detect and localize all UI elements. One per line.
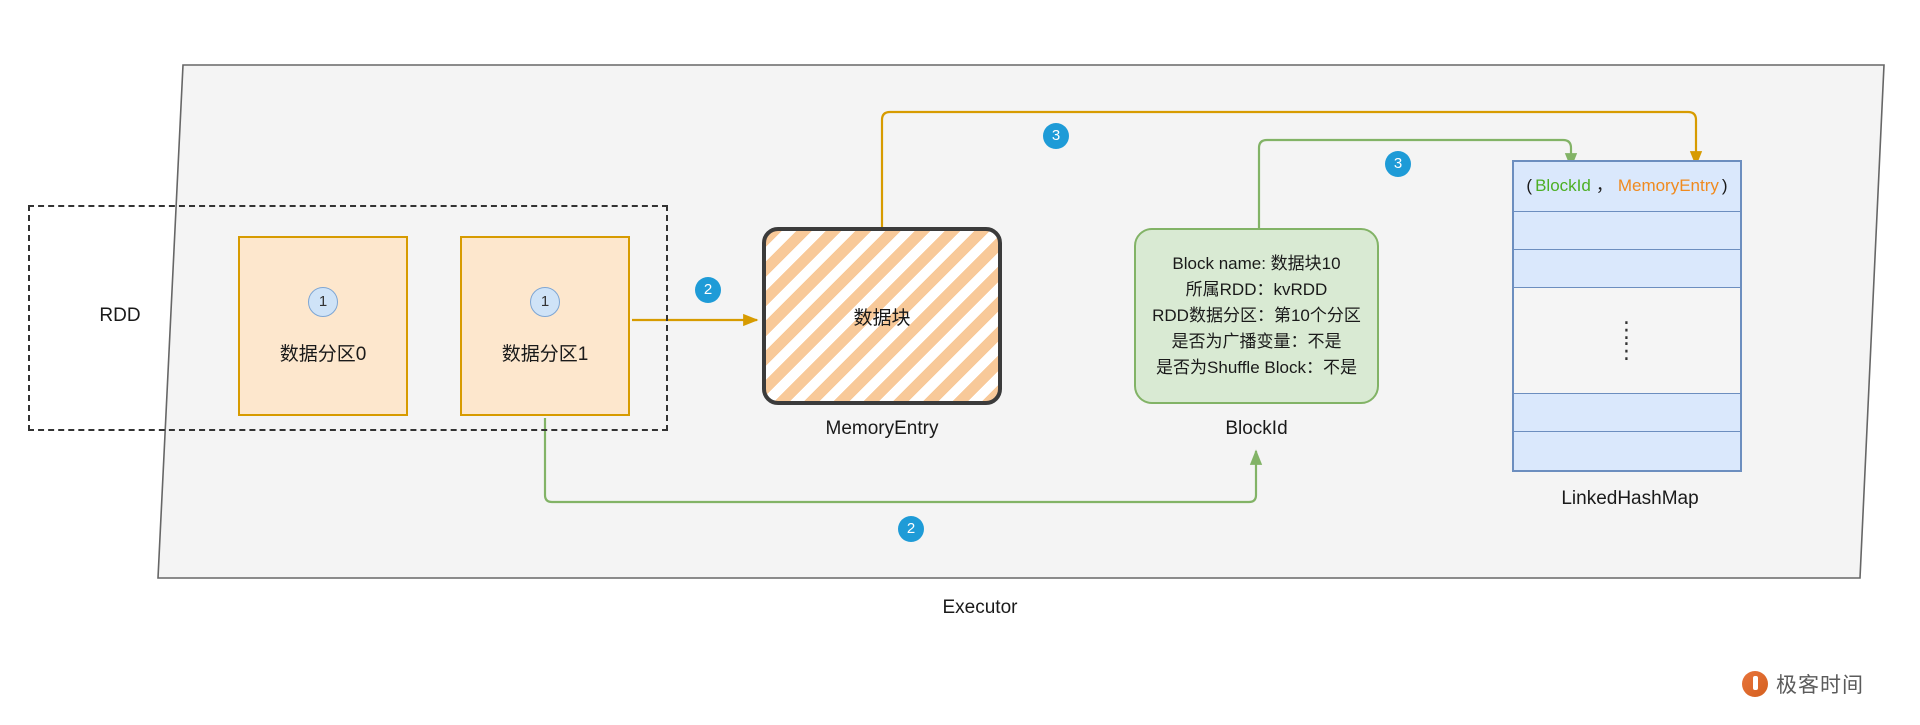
linkedhashmap-row bbox=[1514, 432, 1740, 470]
partition-0-step-badge: 1 bbox=[308, 287, 338, 317]
close-paren: ) bbox=[1722, 177, 1728, 196]
rdd-label: RDD bbox=[60, 305, 180, 327]
open-paren: ( bbox=[1526, 177, 1532, 196]
step-badge-3-left: 3 bbox=[1043, 123, 1069, 149]
data-block-node[interactable]: 数据块 bbox=[762, 227, 1002, 405]
blockid-caption: BlockId bbox=[1134, 418, 1379, 440]
partition-node-1[interactable]: 1 数据分区1 bbox=[460, 236, 630, 416]
memoryentry-caption: MemoryEntry bbox=[762, 418, 1002, 440]
blockid-line-broadcast: 是否为广播变量：不是 bbox=[1172, 330, 1342, 354]
blockid-line-rdd: 所属RDD：kvRDD bbox=[1186, 278, 1328, 302]
blockid-node[interactable]: Block name: 数据块10 所属RDD：kvRDD RDD数据分区：第1… bbox=[1134, 228, 1379, 404]
data-block-label: 数据块 bbox=[853, 303, 910, 330]
map-key-label: BlockId bbox=[1535, 177, 1591, 196]
map-value-label: MemoryEntry bbox=[1618, 177, 1719, 196]
partition-1-step-badge: 1 bbox=[530, 287, 560, 317]
map-comma: ， bbox=[1596, 177, 1613, 196]
geektime-logo-icon bbox=[1742, 671, 1768, 697]
step-badge-2-bottom: 2 bbox=[898, 516, 924, 542]
step-badge-3-right: 3 bbox=[1385, 151, 1411, 177]
step-badge-2-top: 2 bbox=[695, 277, 721, 303]
ellipsis-glyph-bottom: ⋮ bbox=[1616, 341, 1639, 362]
linkedhashmap-header-row: ( BlockId ， MemoryEntry ) bbox=[1514, 162, 1740, 212]
diagram-canvas: RDD 1 数据分区0 1 数据分区1 2 2 3 3 数据块 MemoryEn… bbox=[0, 0, 1920, 725]
partition-1-label: 数据分区1 bbox=[502, 339, 589, 366]
linkedhashmap-row bbox=[1514, 250, 1740, 288]
blockid-line-name: Block name: 数据块10 bbox=[1172, 252, 1340, 276]
blockid-line-shuffle: 是否为Shuffle Block：不是 bbox=[1156, 356, 1357, 380]
linkedhashmap-row bbox=[1514, 212, 1740, 250]
blockid-line-partition: RDD数据分区：第10个分区 bbox=[1152, 304, 1361, 328]
executor-caption: Executor bbox=[860, 597, 1100, 619]
watermark: 极客时间 bbox=[1742, 669, 1864, 699]
partition-0-label: 数据分区0 bbox=[280, 339, 367, 366]
linkedhashmap-caption: LinkedHashMap bbox=[1510, 488, 1750, 510]
linkedhashmap-row bbox=[1514, 394, 1740, 432]
partition-node-0[interactable]: 1 数据分区0 bbox=[238, 236, 408, 416]
linkedhashmap-ellipsis-row: ⋮ ⋮ bbox=[1514, 288, 1740, 394]
watermark-text: 极客时间 bbox=[1776, 669, 1864, 699]
linkedhashmap-node[interactable]: ( BlockId ， MemoryEntry ) ⋮ ⋮ bbox=[1512, 160, 1742, 472]
